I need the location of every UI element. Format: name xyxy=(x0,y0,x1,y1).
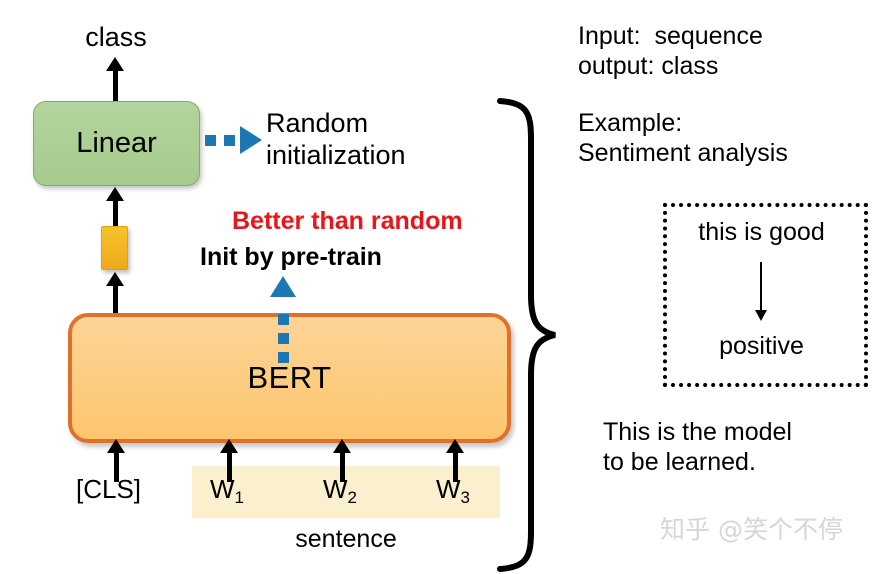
diagram-canvas: class Linear BERT [CLS] W1 W2 W3 sentenc… xyxy=(0,0,885,574)
token-w1-base: W xyxy=(210,474,235,504)
token-w1: W1 xyxy=(210,474,244,508)
token-w2: W2 xyxy=(323,474,357,508)
arrow-w1-to-bert-head xyxy=(220,439,238,453)
example-line2: Sentiment analysis xyxy=(578,139,788,167)
init-by-pretrain-note: Init by pre-train xyxy=(200,243,382,273)
grouping-brace xyxy=(495,95,570,574)
arrow-w3-to-bert-head xyxy=(446,439,464,453)
input-output-spec: Input: sequence output: class xyxy=(578,22,763,81)
bert-model-label: BERT xyxy=(247,360,331,396)
arrow-bert-to-vector-head xyxy=(106,272,124,286)
arrow-w2-to-bert-head xyxy=(333,439,351,453)
arrow-vector-to-linear-head xyxy=(106,187,124,201)
token-w2-sub: 2 xyxy=(348,488,357,507)
watermark: 知乎 @笑个不停 xyxy=(660,515,843,545)
random-init-line2: initialization xyxy=(266,140,406,170)
dashed-arrow-pretrain-seg2 xyxy=(278,333,289,344)
example-line1: Example: xyxy=(578,109,682,137)
arrow-cls-to-bert-head xyxy=(107,439,125,453)
dashed-arrow-random-head xyxy=(240,126,262,154)
class-output-label: class xyxy=(0,22,232,54)
example-arrow-shaft xyxy=(760,262,762,312)
random-init-line1: Random xyxy=(266,108,368,138)
token-w3-base: W xyxy=(436,474,461,504)
token-w2-base: W xyxy=(323,474,348,504)
model-note-line2: to be learned. xyxy=(603,448,756,476)
arrow-bert-to-vector-shaft xyxy=(113,285,118,315)
token-cls-base: [CLS] xyxy=(76,474,141,504)
dashed-arrow-random-seg2 xyxy=(224,135,235,146)
dashed-arrow-pretrain-seg1 xyxy=(278,352,289,363)
better-than-random-note: Better than random xyxy=(232,207,463,237)
io-line1: Input: sequence xyxy=(578,22,763,50)
example-input-text: this is good xyxy=(663,218,860,248)
dashed-arrow-pretrain-seg3 xyxy=(278,314,289,325)
token-cls: [CLS] xyxy=(76,474,141,505)
example-output-text: positive xyxy=(663,332,860,362)
bert-model-box[interactable]: BERT xyxy=(68,313,511,443)
linear-layer-label: Linear xyxy=(76,127,157,160)
cls-embedding-vector xyxy=(101,226,128,270)
token-w1-sub: 1 xyxy=(235,488,244,507)
sentence-caption: sentence xyxy=(206,525,486,555)
dashed-arrow-random-seg1 xyxy=(205,135,216,146)
arrow-linear-to-class-head xyxy=(106,57,124,71)
example-arrow-head xyxy=(755,310,767,321)
token-w3: W3 xyxy=(436,474,470,508)
model-note-line1: This is the model xyxy=(603,418,792,446)
model-note: This is the model to be learned. xyxy=(603,418,792,477)
arrow-linear-to-class-shaft xyxy=(113,70,118,102)
example-spec: Example: Sentiment analysis xyxy=(578,109,788,168)
dashed-arrow-pretrain-head xyxy=(270,276,296,297)
token-w3-sub: 3 xyxy=(461,488,470,507)
io-line2: output: class xyxy=(578,52,718,80)
linear-layer-box[interactable]: Linear xyxy=(33,101,200,186)
random-initialization-note: Random initialization xyxy=(266,108,406,172)
arrow-vector-to-linear-shaft xyxy=(113,200,118,228)
